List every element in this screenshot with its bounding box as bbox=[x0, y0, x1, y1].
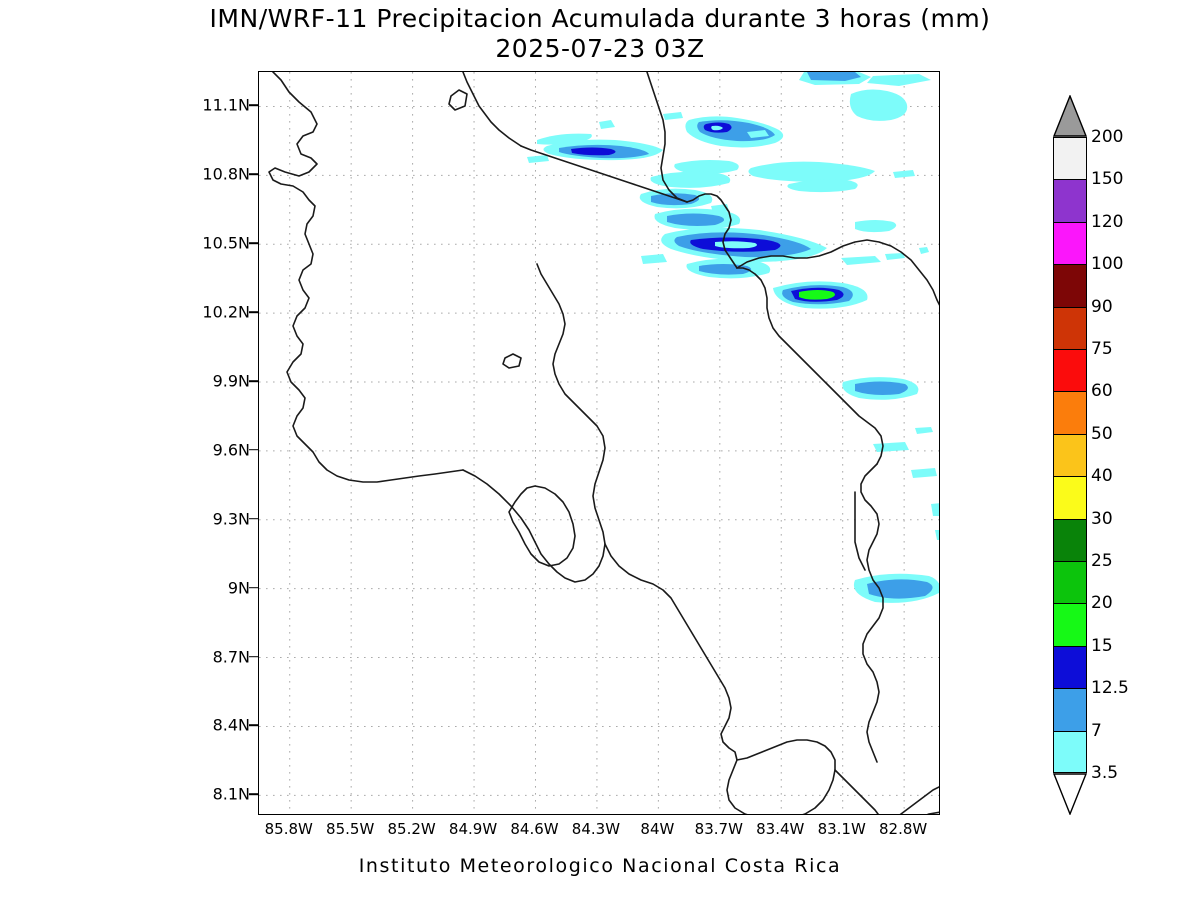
colorbar-cell[interactable] bbox=[1053, 476, 1087, 518]
y-tick-label: 11.1N bbox=[202, 96, 250, 115]
colorbar-cell[interactable] bbox=[1053, 731, 1087, 773]
x-axis-labels: 85.8W85.5W85.2W84.9W84.6W84.3W84W83.7W83… bbox=[258, 820, 940, 846]
y-tick-mark bbox=[249, 242, 258, 244]
colorbar-tick-label: 25 bbox=[1091, 551, 1113, 571]
y-tick-mark bbox=[249, 174, 258, 176]
x-tick-label: 85.5W bbox=[326, 820, 374, 838]
colorbar-cell[interactable] bbox=[1053, 264, 1087, 306]
y-tick-label: 10.2N bbox=[202, 303, 250, 322]
y-tick-mark bbox=[249, 587, 258, 589]
colorbar-tick-label: 60 bbox=[1091, 381, 1113, 401]
y-tick-mark bbox=[249, 725, 258, 727]
attribution-footer: Instituto Meteorologico Nacional Costa R… bbox=[0, 855, 1200, 877]
y-tick-mark bbox=[249, 380, 258, 382]
figure-root: IMN/WRF-11 Precipitacion Acumulada duran… bbox=[0, 0, 1200, 900]
colorbar-cell[interactable] bbox=[1053, 179, 1087, 221]
y-tick-label: 9.9N bbox=[213, 372, 250, 391]
y-tick-mark bbox=[249, 105, 258, 107]
x-tick-label: 84.6W bbox=[510, 820, 558, 838]
colorbar-tick-label: 20 bbox=[1091, 593, 1113, 613]
colorbar-cell[interactable] bbox=[1053, 137, 1087, 179]
y-tick-mark bbox=[249, 656, 258, 658]
y-tick-label: 9.6N bbox=[213, 440, 250, 459]
x-tick-label: 85.2W bbox=[387, 820, 435, 838]
colorbar-cell[interactable] bbox=[1053, 603, 1087, 645]
colorbar-over-arrow bbox=[1053, 95, 1087, 137]
map-canvas bbox=[259, 72, 940, 815]
x-tick-label: 83.7W bbox=[695, 820, 743, 838]
y-tickmarks bbox=[249, 71, 258, 815]
y-tick-label: 8.1N bbox=[213, 785, 250, 804]
colorbar-tick-label: 12.5 bbox=[1091, 678, 1129, 698]
y-tick-label: 9N bbox=[228, 578, 250, 597]
colorbar-cell[interactable] bbox=[1053, 434, 1087, 476]
colorbar-tick-label: 3.5 bbox=[1091, 763, 1118, 783]
x-tick-label: 84.9W bbox=[449, 820, 497, 838]
colorbar-cell[interactable] bbox=[1053, 391, 1087, 433]
y-tick-mark bbox=[249, 794, 258, 796]
y-tick-mark bbox=[249, 311, 258, 313]
colorbar-cell[interactable] bbox=[1053, 561, 1087, 603]
colorbar-tick-label: 50 bbox=[1091, 424, 1113, 444]
y-tick-label: 10.5N bbox=[202, 234, 250, 253]
x-tick-label: 85.8W bbox=[265, 820, 313, 838]
colorbar-cell[interactable] bbox=[1053, 349, 1087, 391]
colorbar-cell[interactable] bbox=[1053, 519, 1087, 561]
colorbar-cell[interactable] bbox=[1053, 307, 1087, 349]
colorbar-tick-label: 90 bbox=[1091, 297, 1113, 317]
x-tick-label: 83.4W bbox=[756, 820, 804, 838]
x-tick-label: 84W bbox=[640, 820, 674, 838]
colorbar[interactable] bbox=[1053, 95, 1087, 815]
colorbar-cell[interactable] bbox=[1053, 688, 1087, 730]
colorbar-under-arrow bbox=[1053, 773, 1087, 815]
y-tick-mark bbox=[249, 449, 258, 451]
x-tick-label: 82.8W bbox=[879, 820, 927, 838]
colorbar-tick-label: 15 bbox=[1091, 636, 1113, 656]
colorbar-cell[interactable] bbox=[1053, 222, 1087, 264]
colorbar-tick-label: 120 bbox=[1091, 212, 1123, 232]
x-tick-label: 84.3W bbox=[572, 820, 620, 838]
map-plot-area[interactable] bbox=[258, 71, 940, 815]
colorbar-tick-label: 30 bbox=[1091, 509, 1113, 529]
colorbar-tick-label: 200 bbox=[1091, 127, 1123, 147]
colorbar-tick-label: 100 bbox=[1091, 254, 1123, 274]
chart-title-block: IMN/WRF-11 Precipitacion Acumulada duran… bbox=[0, 4, 1200, 64]
y-tick-mark bbox=[249, 518, 258, 520]
y-tick-label: 8.4N bbox=[213, 716, 250, 735]
colorbar-cell[interactable] bbox=[1053, 646, 1087, 688]
colorbar-tick-label: 150 bbox=[1091, 169, 1123, 189]
y-tick-label: 10.8N bbox=[202, 165, 250, 184]
colorbar-tick-label: 75 bbox=[1091, 339, 1113, 359]
chart-subtitle: 2025-07-23 03Z bbox=[0, 34, 1200, 64]
y-tick-label: 9.3N bbox=[213, 509, 250, 528]
y-axis-labels: 11.1N10.8N10.5N10.2N9.9N9.6N9.3N9N8.7N8.… bbox=[180, 71, 250, 815]
y-tick-label: 8.7N bbox=[213, 647, 250, 666]
x-tick-label: 83.1W bbox=[818, 820, 866, 838]
chart-title: IMN/WRF-11 Precipitacion Acumulada duran… bbox=[0, 4, 1200, 34]
colorbar-tick-label: 40 bbox=[1091, 466, 1113, 486]
colorbar-tick-label: 7 bbox=[1091, 721, 1102, 741]
